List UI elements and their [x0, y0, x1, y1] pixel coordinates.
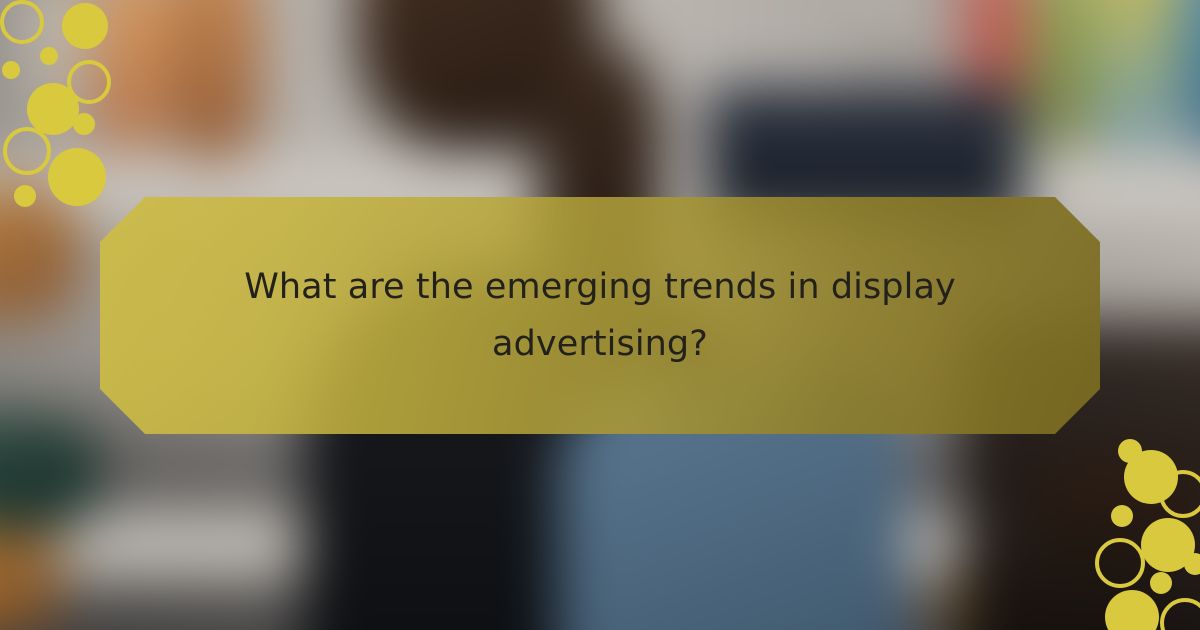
- question-banner: What are the emerging trends in display …: [100, 197, 1100, 434]
- question-card-canvas: What are the emerging trends in display …: [0, 0, 1200, 630]
- question-title: What are the emerging trends in display …: [220, 259, 980, 372]
- decorative-dot-solid: [1184, 553, 1200, 575]
- decorative-dot-ring: [1159, 470, 1200, 518]
- decorative-dot-solid: [1111, 505, 1133, 527]
- decorative-dot-ring: [1160, 598, 1200, 630]
- decorative-dot-solid: [1105, 590, 1159, 630]
- decorative-dot-ring: [1095, 538, 1145, 588]
- decorative-dot-solid: [1150, 572, 1172, 594]
